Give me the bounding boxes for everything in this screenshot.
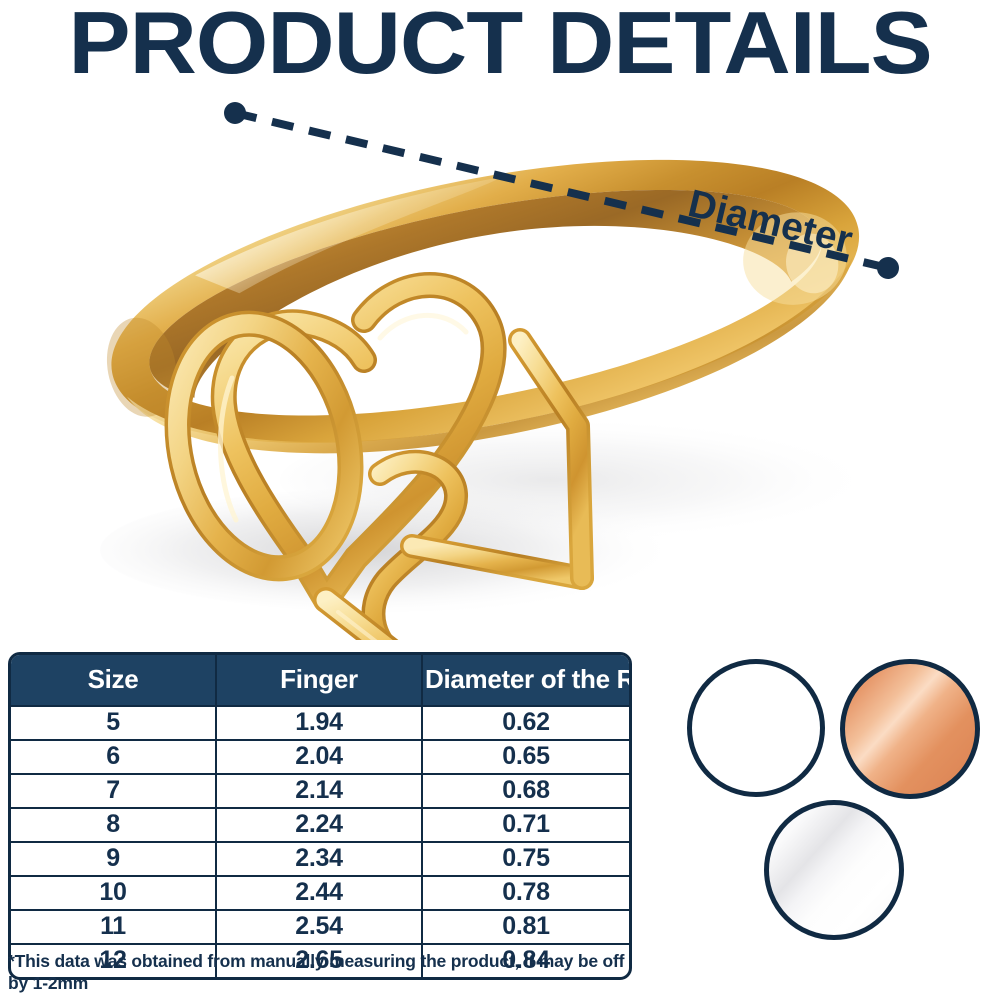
cell-finger: 2.24 <box>217 807 423 841</box>
column-header-size: Size <box>11 655 217 705</box>
cell-diameter: 0.62 <box>423 705 629 739</box>
table-row: 7 2.14 0.68 <box>11 773 629 807</box>
cell-finger: 1.94 <box>217 705 423 739</box>
color-swatch-silver[interactable] <box>764 800 904 940</box>
product-ring-image <box>60 150 940 640</box>
cell-size: 7 <box>11 773 217 807</box>
color-swatch-gold[interactable] <box>687 659 825 797</box>
table-row: 9 2.34 0.75 <box>11 841 629 875</box>
cell-diameter: 0.68 <box>423 773 629 807</box>
table-row: 6 2.04 0.65 <box>11 739 629 773</box>
cell-finger: 2.54 <box>217 909 423 943</box>
size-table-container: Size Finger Diameter of the Ring 5 1.94 … <box>8 652 632 980</box>
cell-size: 6 <box>11 739 217 773</box>
cell-diameter: 0.65 <box>423 739 629 773</box>
cell-finger: 2.14 <box>217 773 423 807</box>
page-title: PRODUCT DETAILS <box>0 0 1000 88</box>
cell-diameter: 0.78 <box>423 875 629 909</box>
table-row: 5 1.94 0.62 <box>11 705 629 739</box>
cell-size: 11 <box>11 909 217 943</box>
cell-diameter: 0.81 <box>423 909 629 943</box>
cell-finger: 2.34 <box>217 841 423 875</box>
color-swatch-group <box>668 648 1000 948</box>
color-swatch-rose-gold[interactable] <box>840 659 980 799</box>
cell-size: 9 <box>11 841 217 875</box>
cell-diameter: 0.71 <box>423 807 629 841</box>
cell-size: 8 <box>11 807 217 841</box>
size-table: Size Finger Diameter of the Ring 5 1.94 … <box>8 652 632 980</box>
table-header-row: Size Finger Diameter of the Ring <box>11 655 629 705</box>
column-header-diameter: Diameter of the Ring <box>423 655 629 705</box>
table-row: 8 2.24 0.71 <box>11 807 629 841</box>
cell-size: 10 <box>11 875 217 909</box>
table-row: 11 2.54 0.81 <box>11 909 629 943</box>
cell-size: 5 <box>11 705 217 739</box>
diameter-start-dot <box>224 102 246 124</box>
cell-diameter: 0.75 <box>423 841 629 875</box>
table-footnote: *This data was obtained from manually me… <box>8 950 648 995</box>
cell-finger: 2.44 <box>217 875 423 909</box>
table-row: 10 2.44 0.78 <box>11 875 629 909</box>
cell-finger: 2.04 <box>217 739 423 773</box>
column-header-finger: Finger <box>217 655 423 705</box>
